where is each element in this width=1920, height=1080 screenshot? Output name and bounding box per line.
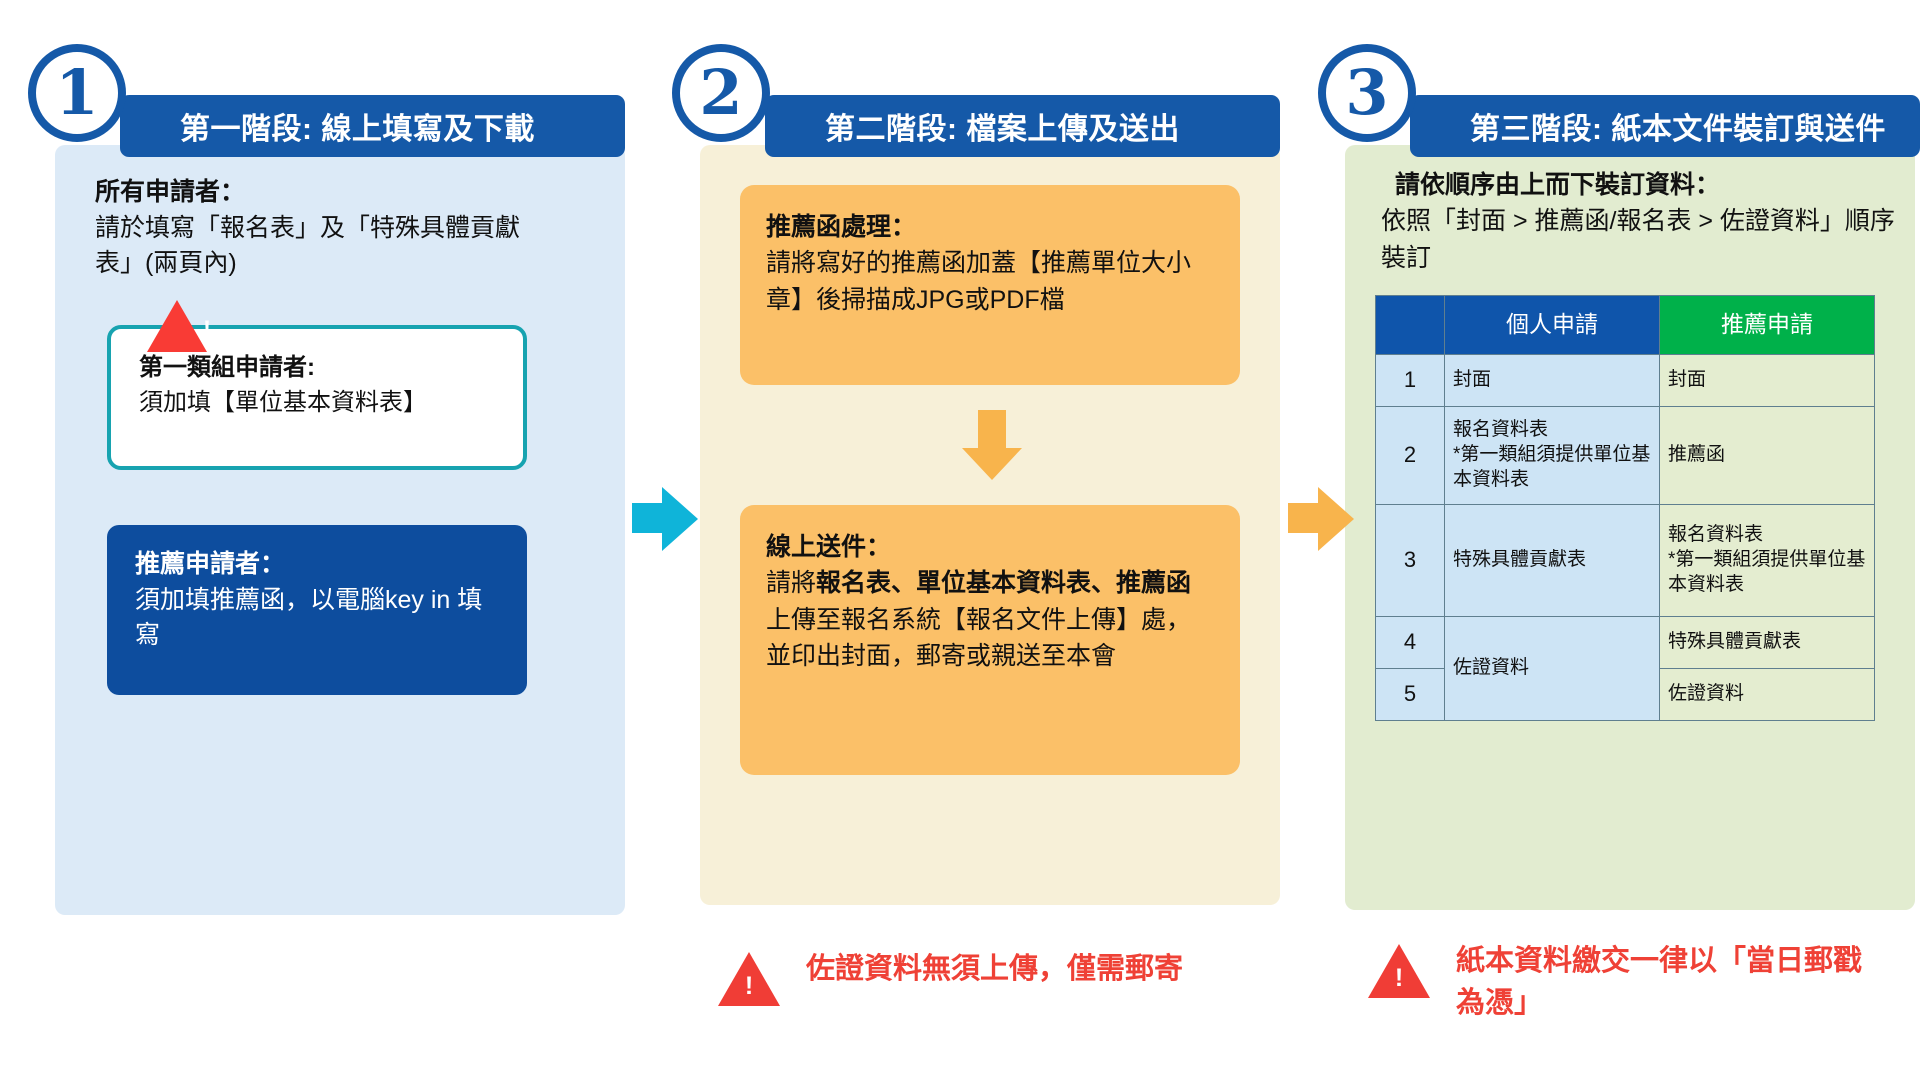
stage-2-card1-bold: 推薦函處理： bbox=[766, 209, 1214, 245]
down-arrow-icon bbox=[962, 410, 1022, 480]
table-row: 3 特殊具體貢獻表 報名資料表 *第一類組須提供單位基本資料表 bbox=[1376, 505, 1875, 617]
cell-index: 5 bbox=[1376, 669, 1445, 721]
cell-recommend: 特殊具體貢獻表 bbox=[1660, 617, 1875, 669]
stage-2-card1-text: 請將寫好的推薦函加蓋【推薦單位大小章】後掃描成JPG或PDF檔 bbox=[766, 249, 1191, 313]
connector-arrow-2-to-3-icon bbox=[1288, 487, 1354, 551]
cell-recommend: 報名資料表 *第一類組須提供單位基本資料表 bbox=[1660, 505, 1875, 617]
stage-2-card2-bold: 線上送件： bbox=[766, 529, 1214, 565]
cell-personal: 封面 bbox=[1445, 355, 1660, 407]
stage-1-note-bold: 第一類組申請者: bbox=[139, 351, 523, 386]
stage-1-number: 1 bbox=[55, 62, 98, 124]
cell-recommend: 推薦函 bbox=[1660, 407, 1875, 505]
stage-2-card-recommendation: 推薦函處理： 請將寫好的推薦函加蓋【推薦單位大小章】後掃描成JPG或PDF檔 bbox=[740, 185, 1240, 385]
table-header-personal: 個人申請 bbox=[1445, 296, 1660, 355]
cell-index: 3 bbox=[1376, 505, 1445, 617]
stage-2-number-badge: 2 bbox=[672, 44, 770, 142]
stage-3-intro: 請依順序由上而下裝訂資料： 依照「封面 > 推薦函/報名表 > 佐證資料」順序裝… bbox=[1381, 167, 1901, 276]
stage-1-number-badge: 1 bbox=[28, 44, 126, 142]
stage-2-card-online-submit: 線上送件： 請將報名表、單位基本資料表、推薦函上傳至報名系統【報名文件上傳】處，… bbox=[740, 505, 1240, 775]
table-row: 1 封面 封面 bbox=[1376, 355, 1875, 407]
cell-recommend: 封面 bbox=[1660, 355, 1875, 407]
table-row: 4 佐證資料 特殊具體貢獻表 bbox=[1376, 617, 1875, 669]
cell-recommend: 佐證資料 bbox=[1660, 669, 1875, 721]
stage-1-intro-text: 請於填寫「報名表」及「特殊具體貢獻表」(兩頁內) bbox=[95, 214, 520, 278]
cell-personal: 佐證資料 bbox=[1445, 617, 1660, 721]
stage-3-intro-text: 依照「封面 > 推薦函/報名表 > 佐證資料」順序裝訂 bbox=[1381, 207, 1895, 271]
table-row: 2 報名資料表 *第一類組須提供單位基本資料表 推薦函 bbox=[1376, 407, 1875, 505]
cell-personal: 報名資料表 *第一類組須提供單位基本資料表 bbox=[1445, 407, 1660, 505]
stage-2-title: 第二階段: 檔案上傳及送出 bbox=[825, 104, 1180, 148]
stage-3-number-badge: 3 bbox=[1318, 44, 1416, 142]
stage-1-header: 第一階段: 線上填寫及下載 bbox=[120, 95, 625, 157]
cell-index: 4 bbox=[1376, 617, 1445, 669]
alert-triangle-icon: ! bbox=[1368, 944, 1430, 998]
stage-1-intro-bold: 所有申請者： bbox=[95, 175, 525, 211]
infographic-canvas: 所有申請者： 請於填寫「報名表」及「特殊具體貢獻表」(兩頁內) ! 第一類組申請… bbox=[0, 0, 1920, 1080]
stage-2-number: 2 bbox=[699, 62, 742, 124]
stage-1-blue-bold: 推薦申請者： bbox=[135, 547, 501, 583]
table-header-row: 個人申請 推薦申請 bbox=[1376, 296, 1875, 355]
warning-triangle-icon: ! bbox=[147, 300, 207, 352]
cell-personal: 特殊具體貢獻表 bbox=[1445, 505, 1660, 617]
cell-index: 2 bbox=[1376, 407, 1445, 505]
footnote-stage-2-text: 佐證資料無須上傳，僅需郵寄 bbox=[806, 948, 1183, 990]
stage-1-note-text: 須加填【單位基本資料表】 bbox=[139, 389, 427, 416]
stage-3-body: 請依順序由上而下裝訂資料： 依照「封面 > 推薦函/報名表 > 佐證資料」順序裝… bbox=[1345, 145, 1915, 910]
table-header-index bbox=[1376, 296, 1445, 355]
stage-2-header: 第二階段: 檔案上傳及送出 bbox=[765, 95, 1280, 157]
stage-3-title: 第三階段: 紙本文件裝訂與送件 bbox=[1470, 104, 1886, 148]
table-header-recommend: 推薦申請 bbox=[1660, 296, 1875, 355]
stage-2-card2-strong: 報名表、單位基本資料表、推薦函 bbox=[816, 569, 1191, 597]
binding-order-table: 個人申請 推薦申請 1 封面 封面 2 報名資料表 *第一類組須提供單位基本資料… bbox=[1375, 295, 1875, 721]
stage-2-body: 推薦函處理： 請將寫好的推薦函加蓋【推薦單位大小章】後掃描成JPG或PDF檔 線… bbox=[700, 145, 1280, 905]
stage-1-intro: 所有申請者： 請於填寫「報名表」及「特殊具體貢獻表」(兩頁內) bbox=[95, 175, 525, 282]
stage-1-blue-box: 推薦申請者： 須加填推薦函，以電腦key in 填寫 bbox=[107, 525, 527, 695]
stage-2-card2-mid: 上傳至報名系統【報名文件上傳】處，並印出封面，郵寄或親送至本會 bbox=[766, 606, 1191, 670]
stage-3-number: 3 bbox=[1345, 62, 1388, 124]
footnote-stage-2: ! 佐證資料無須上傳，僅需郵寄 bbox=[718, 948, 1238, 1006]
stage-2-card2-lead: 請將 bbox=[766, 569, 816, 597]
connector-arrow-1-to-2-icon bbox=[632, 487, 698, 551]
alert-triangle-icon: ! bbox=[718, 952, 780, 1006]
stage-3-intro-bold: 請依順序由上而下裝訂資料： bbox=[1381, 167, 1901, 203]
footnote-stage-3: ! 紙本資料繳交一律以「當日郵戳為憑」 bbox=[1368, 940, 1888, 1024]
cell-index: 1 bbox=[1376, 355, 1445, 407]
stage-1-blue-text: 須加填推薦函，以電腦key in 填寫 bbox=[135, 586, 482, 650]
stage-1-body: 所有申請者： 請於填寫「報名表」及「特殊具體貢獻表」(兩頁內) ! 第一類組申請… bbox=[55, 145, 625, 915]
stage-3-header: 第三階段: 紙本文件裝訂與送件 bbox=[1410, 95, 1920, 157]
stage-1-title: 第一階段: 線上填寫及下載 bbox=[180, 104, 535, 148]
footnote-stage-3-text: 紙本資料繳交一律以「當日郵戳為憑」 bbox=[1456, 940, 1888, 1024]
